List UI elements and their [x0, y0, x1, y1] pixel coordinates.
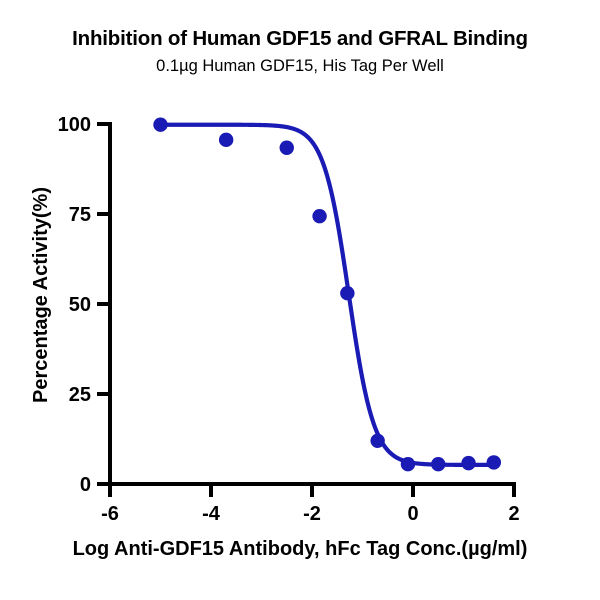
data-point	[431, 457, 445, 471]
data-point	[370, 434, 384, 448]
y-tick-label: 75	[69, 204, 91, 226]
y-tick-label: 50	[69, 294, 91, 316]
y-tick-label: 0	[80, 474, 91, 496]
y-axis-tick-labels: 0255075100	[58, 114, 91, 496]
data-point	[461, 456, 475, 470]
data-point	[219, 133, 233, 147]
x-tick-label: -2	[303, 503, 321, 525]
data-point	[153, 118, 167, 132]
y-tick-label: 25	[69, 384, 91, 406]
data-point	[312, 209, 326, 223]
x-tick-label: 0	[407, 503, 418, 525]
data-point	[401, 457, 415, 471]
data-point	[340, 286, 354, 300]
x-tick-label: -6	[101, 503, 119, 525]
x-tick-label: 2	[508, 503, 519, 525]
fit-curve	[161, 125, 494, 465]
x-tick-label: -4	[202, 503, 221, 525]
data-point	[280, 141, 294, 155]
chart-figure: Inhibition of Human GDF15 and GFRAL Bind…	[0, 0, 600, 600]
x-axis-tick-labels: -6-4-202	[101, 503, 519, 525]
plot-area: 0255075100 -6-4-202	[0, 0, 600, 600]
y-tick-label: 100	[58, 114, 91, 136]
data-point	[487, 455, 501, 469]
